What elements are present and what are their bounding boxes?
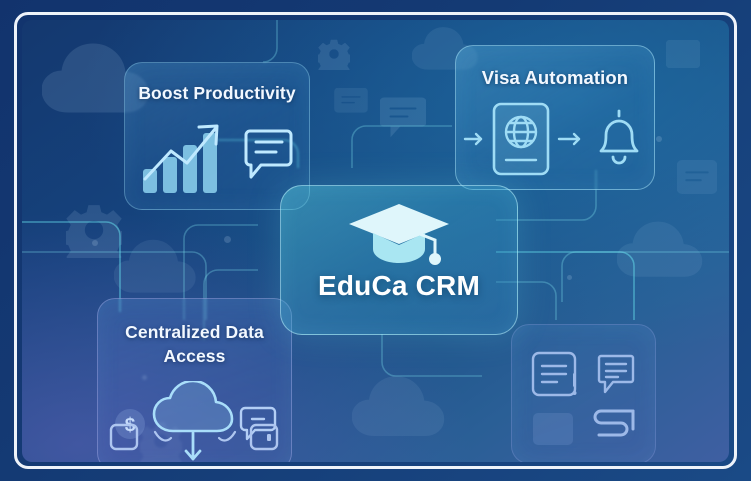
bell-icon [590, 107, 648, 171]
card-boost-productivity[interactable]: Boost Productivity [124, 62, 310, 210]
card-documents[interactable] [511, 324, 656, 462]
card-boost-title: Boost Productivity [125, 82, 309, 104]
rounded-square-icon [109, 423, 141, 453]
illustration-canvas: Boost Productivity [22, 20, 729, 462]
graduation-cap-icon [347, 202, 451, 268]
reply-arrow-icon [591, 407, 637, 451]
bar-chart-growth-icon [141, 115, 227, 197]
card-centralized-data-access[interactable]: Centralized Data Access $ [97, 298, 292, 462]
card-visa-title: Visa Automation [456, 66, 654, 90]
passport-globe-icon [492, 102, 550, 176]
chat-bubble-lines-icon [597, 354, 637, 398]
document-alert-icon [531, 351, 583, 401]
arc-connector-icon [153, 430, 173, 446]
hero-title: EduCa CRM [281, 270, 517, 302]
card-icon [531, 411, 575, 447]
card-data-title-line2: Access [98, 345, 291, 367]
image-frame: Boost Productivity [0, 0, 751, 481]
card-data-title-line1: Centralized Data [98, 321, 291, 343]
hero-card-educa-crm[interactable]: EduCa CRM [280, 185, 518, 335]
card-visa-automation[interactable]: Visa Automation [455, 45, 655, 190]
arrow-right-icon [463, 129, 485, 149]
arc-connector-icon [217, 430, 237, 446]
chat-bubble-icon [239, 127, 293, 185]
device-icon [249, 423, 281, 453]
arrow-right-icon [557, 129, 583, 149]
arrow-down-icon [185, 423, 205, 453]
